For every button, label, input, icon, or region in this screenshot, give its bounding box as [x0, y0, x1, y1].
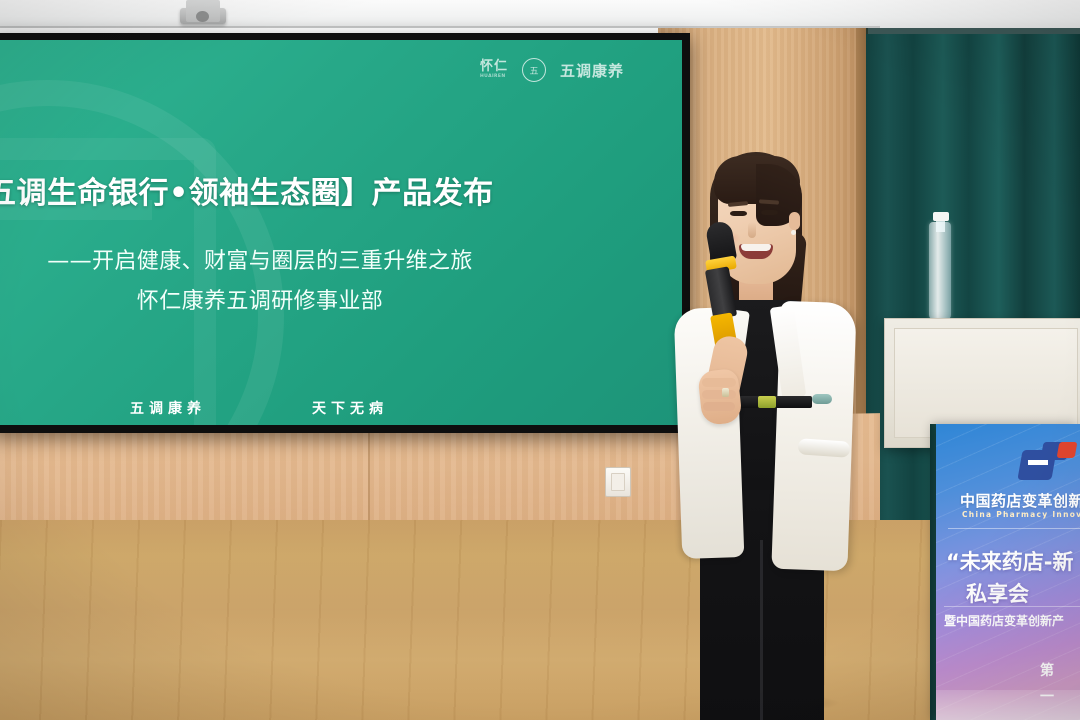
trouser-center-seam [760, 540, 763, 720]
water-bottle-cap [933, 212, 949, 221]
banner-divider-top [948, 528, 1080, 529]
eye-left [730, 211, 747, 216]
logo-shape-red [1057, 442, 1078, 458]
eye-right [761, 210, 778, 215]
presentation-photo: 怀仁 HUAIREN 五 五调康养 五调生命银行•领袖生态圈】产品发布 ——开启… [0, 0, 1080, 720]
projector-bolt-hole [196, 11, 209, 22]
slide-title: 五调生命银行•领袖生态圈】产品发布 [0, 168, 566, 212]
banner-floor-reflection [936, 690, 1080, 720]
wudiao-emblem-glyph: 五 [530, 64, 539, 77]
ear [789, 212, 800, 230]
slide-logo-group: 怀仁 HUAIREN 五 五调康养 [480, 58, 624, 82]
finger-2 [702, 390, 736, 399]
logo-shape-white [1028, 460, 1048, 465]
bracelet [812, 394, 832, 404]
nose [748, 222, 756, 238]
huairen-logo-text: 怀仁 [480, 59, 508, 74]
pharmacy-org-logo-icon [1020, 442, 1078, 486]
slide-subtitle: ——开启健康、财富与圈层的三重升维之旅 [0, 243, 520, 275]
wudiao-kangyang-logo: 五调康养 [560, 60, 624, 81]
banner-note-1: 第 [1040, 660, 1054, 680]
projection-screen [0, 40, 682, 425]
speaker-figure [660, 140, 860, 720]
finger-ring [722, 388, 729, 397]
slide-department: 怀仁康养五调研修事业部 [0, 283, 520, 315]
lectern-panel [894, 328, 1078, 438]
banner-headline-1: “未来药店-新 [946, 546, 1080, 576]
water-bottle [929, 222, 951, 320]
earring [791, 230, 796, 235]
finger-3 [703, 402, 735, 411]
banner-org-name-en: China Pharmacy Innovat [962, 510, 1080, 519]
wudiao-emblem-icon: 五 [522, 58, 546, 82]
huairen-logo-subtext: HUAIREN [480, 75, 508, 80]
light-switch-rocker[interactable] [611, 473, 625, 491]
huairen-logo: 怀仁 HUAIREN [480, 60, 508, 80]
slide-footer-right: 天下无病 [312, 398, 388, 418]
belt-buckle [758, 396, 776, 408]
banner-org-name-cn: 中国药店变革创新 [960, 490, 1080, 511]
banner-divider-bottom [944, 606, 1080, 607]
slide-footer-left: 五调康养 [130, 398, 206, 418]
teeth [741, 244, 771, 251]
floor-light-reflection [0, 520, 1080, 720]
banner-subline: 暨中国药店变革创新产 [944, 612, 1080, 629]
finger-1 [702, 378, 736, 387]
banner-headline-2: 私享会 [966, 578, 1080, 608]
